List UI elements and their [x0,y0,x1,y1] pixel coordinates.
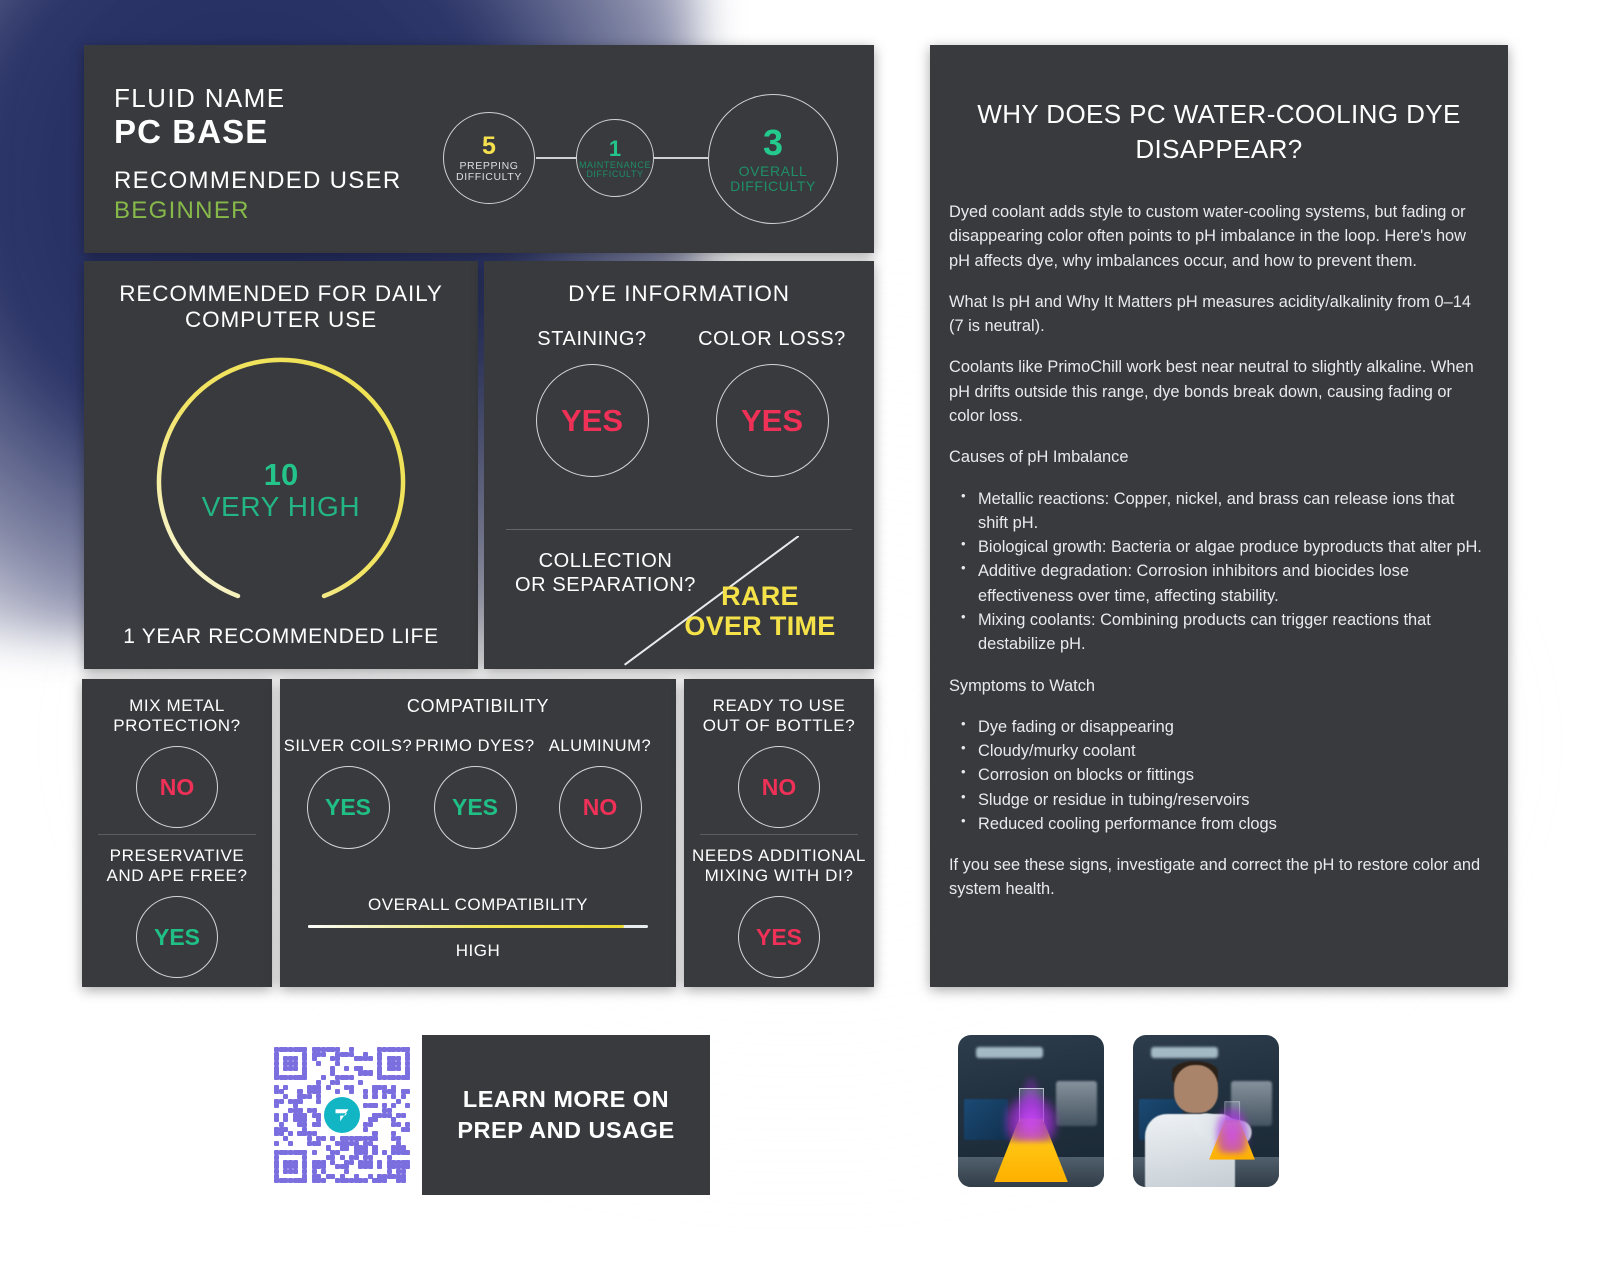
qr-module [372,1117,377,1122]
mix-metal-label-line1: MIX METAL [82,696,272,716]
qr-module [283,1117,288,1122]
symptoms-list-item: Cloudy/murky coolant [949,739,1486,763]
qr-module [316,1122,321,1127]
article-closing: If you see these signs, investigate and … [949,853,1486,902]
qr-module [368,1070,373,1075]
qr-module [372,1103,377,1108]
recommended-user-value: BEGINNER [114,197,250,225]
mix-metal-value: NO [136,746,218,828]
article-paragraph-2: What Is pH and Why It Matters pH measure… [949,290,1486,339]
daily-use-gauge-panel: RECOMMENDED FOR DAILY COMPUTER USE 10 VE… [84,261,478,669]
symptoms-list-item: Corrosion on blocks or fittings [949,763,1486,787]
compat-silver-coils-group: SILVER COILS? YES [282,737,414,849]
made-in-usa-block: PROUDLY MADE IN THE USA [955,1032,1495,1197]
prepping-difficulty-circle: 5 PREPPING DIFFICULTY [443,112,535,204]
qr-module [279,1099,284,1104]
qr-module [396,1099,401,1104]
qr-module [297,1099,302,1104]
difficulty-connector-1 [536,157,577,159]
qr-module [316,1061,321,1066]
preservative-label-line1: PRESERVATIVE [82,846,272,866]
qr-module [321,1178,326,1183]
overall-compatibility-value: HIGH [280,941,676,961]
qr-module [372,1094,377,1099]
qr-module [382,1178,387,1183]
qr-module [274,1141,279,1146]
learn-more-line2: PREP AND USAGE [457,1115,674,1146]
maintenance-difficulty-label-2: DIFFICULTY [586,170,643,179]
qr-module [307,1094,312,1099]
qr-module [382,1094,387,1099]
qr-module [363,1178,368,1183]
symptoms-list: Dye fading or disappearing Cloudy/murky … [949,715,1486,836]
qr-module [372,1136,377,1141]
overall-difficulty-circle: 3 OVERALL DIFFICULTY [708,94,838,224]
qr-module [363,1094,368,1099]
qr-module [321,1052,326,1057]
mix-metal-divider [98,834,256,835]
overall-difficulty-value: 3 [763,124,783,162]
qr-module [405,1150,410,1155]
fluid-name-label: FLUID NAME [114,83,285,114]
primochill-logo-icon [324,1097,360,1133]
qr-module [368,1056,373,1061]
overall-compatibility-label: OVERALL COMPATIBILITY [280,895,676,915]
qr-module [405,1075,410,1080]
ready-value: NO [738,746,820,828]
learn-more-text: LEARN MORE ON PREP AND USAGE [457,1084,674,1146]
primochill-mark-icon [332,1105,352,1125]
maintenance-difficulty-value: 1 [609,137,621,160]
staining-value: YES [536,364,649,477]
staining-group: STAINING? YES [502,328,682,477]
symptoms-list-item: Reduced cooling performance from clogs [949,812,1486,836]
qr-module [274,1103,279,1108]
color-loss-group: COLOR LOSS? YES [682,328,862,477]
usa-rule-left [1303,1118,1359,1122]
lab-photo-scientist [1130,1032,1282,1190]
learn-more-line1: LEARN MORE ON [457,1084,674,1115]
qr-module [372,1150,377,1155]
usa-rule-right [1442,1118,1498,1122]
qr-module [405,1103,410,1108]
fluid-name-value: PC BASE [114,113,268,151]
prepping-difficulty-value: 5 [482,133,496,159]
qr-module [302,1075,307,1080]
compat-primo-dyes-group: PRIMO DYES? YES [409,737,541,849]
article-body: Dyed coolant adds style to custom water-… [949,200,1486,919]
gauge-rating: VERY HIGH [84,490,478,524]
qr-module [321,1169,326,1174]
qr-module [405,1164,410,1169]
gauge-title-line1: RECOMMENDED FOR DAILY [84,281,478,307]
qr-module [344,1145,349,1150]
recommended-user-label: RECOMMENDED USER [114,167,401,195]
gauge-title-line2: COMPUTER USE [84,307,478,333]
compat-aluminum-label: ALUMINUM? [534,737,666,756]
ready-divider [700,834,858,835]
lab-photo-flask [955,1032,1107,1190]
qr-canvas [274,1047,410,1183]
gauge-title: RECOMMENDED FOR DAILY COMPUTER USE [84,281,478,334]
mix-metal-panel: MIX METAL PROTECTION? NO PRESERVATIVE AN… [82,679,272,987]
color-loss-value: YES [716,364,829,477]
collection-separation-value: RARE OVER TIME [660,581,860,641]
qr-module [302,1178,307,1183]
qr-module [293,1066,298,1071]
qr-module [283,1085,288,1090]
qr-module [326,1085,331,1090]
causes-list-item: Metallic reactions: Copper, nickel, and … [949,487,1486,536]
overall-difficulty-label-2: DIFFICULTY [730,179,816,194]
fluid-header-panel: FLUID NAME PC BASE RECOMMENDED USER BEGI… [84,45,874,253]
dye-information-panel: DYE INFORMATION STAINING? YES COLOR LOSS… [484,261,874,669]
prepping-difficulty-label-1: PREPPING [459,161,518,172]
ready-to-use-panel: READY TO USE OUT OF BOTTLE? NO NEEDS ADD… [684,679,874,987]
qr-module [288,1141,293,1146]
compatibility-panel: COMPATIBILITY SILVER COILS? YES PRIMO DY… [280,679,676,987]
lab-photo-scientist-content [1133,1035,1279,1187]
maintenance-difficulty-circle: 1 MAINTENANCE DIFFICULTY [576,119,654,197]
recommended-life-label: 1 YEAR RECOMMENDED LIFE [84,625,478,649]
article-title: WHY DOES PC WATER-COOLING DYE DISAPPEAR? [960,97,1478,167]
made-in-usa-text: PROUDLY MADE IN THE USA [1303,1026,1498,1188]
mix-metal-protection-group: MIX METAL PROTECTION? NO [82,696,272,828]
causes-list: Metallic reactions: Copper, nickel, and … [949,487,1486,657]
preservative-ape-free-group: PRESERVATIVE AND APE FREE? YES [82,846,272,978]
article-paragraph-1: Dyed coolant adds style to custom water-… [949,200,1486,273]
qr-module [335,1080,340,1085]
qr-code[interactable] [262,1035,422,1195]
mix-metal-label-line2: PROTECTION? [82,716,272,736]
qr-module [391,1103,396,1108]
mixdi-label-line1: NEEDS ADDITIONAL [684,846,874,866]
symptoms-heading: Symptoms to Watch [949,674,1486,698]
mixdi-value: YES [738,896,820,978]
symptoms-list-item: Dye fading or disappearing [949,715,1486,739]
color-loss-label: COLOR LOSS? [682,328,862,351]
qr-module [312,1150,317,1155]
qr-module [349,1089,354,1094]
qr-module [293,1169,298,1174]
causes-list-item: Additive degradation: Corrosion inhibito… [949,559,1486,608]
article-panel: WHY DOES PC WATER-COOLING DYE DISAPPEAR?… [930,45,1508,987]
qr-module [405,1127,410,1132]
qr-module [349,1075,354,1080]
ready-label-line2: OUT OF BOTTLE? [684,716,874,736]
article-paragraph-3: Coolants like PrimoChill work best near … [949,355,1486,428]
qr-module [316,1141,321,1146]
qr-module [288,1131,293,1136]
collection-label-line1: COLLECTION [498,549,713,573]
gauge-value: 10 [84,459,478,490]
usa-label: USA [1303,1133,1498,1188]
causes-list-item: Mixing coolants: Combining products can … [949,608,1486,657]
learn-more-block[interactable]: LEARN MORE ON PREP AND USAGE [262,1035,710,1195]
overall-compatibility-bar-fill [308,925,624,928]
qr-module [368,1122,373,1127]
qr-module [363,1127,368,1132]
causes-list-item: Biological growth: Bacteria or algae pro… [949,535,1486,559]
staining-label: STAINING? [502,328,682,351]
usa-made-label: MADE [1303,1055,1498,1102]
qr-module [401,1178,406,1183]
qr-module [401,1094,406,1099]
learn-more-label-box[interactable]: LEARN MORE ON PREP AND USAGE [422,1035,710,1195]
lab-photo-flask-content [958,1035,1104,1187]
qr-module [405,1089,410,1094]
qr-module [316,1099,321,1104]
ready-label-line1: READY TO USE [684,696,874,716]
causes-heading: Causes of pH Imbalance [949,445,1486,469]
overall-difficulty-label-1: OVERALL [739,164,808,179]
qr-module [321,1075,326,1080]
prepping-difficulty-label-2: DIFFICULTY [456,172,522,183]
symptoms-list-item: Sludge or residue in tubing/reservoirs [949,788,1486,812]
qr-module [401,1113,406,1118]
compat-primo-dyes-value: YES [434,766,517,849]
qr-module [358,1080,363,1085]
collection-value-line1: RARE [660,581,860,611]
compat-silver-coils-value: YES [307,766,390,849]
qr-module [349,1160,354,1165]
qr-module [396,1122,401,1127]
compat-primo-dyes-label: PRIMO DYES? [409,737,541,756]
compat-aluminum-value: NO [559,766,642,849]
qr-logo [321,1094,363,1136]
qr-module [396,1066,401,1071]
preservative-value: YES [136,896,218,978]
qr-module [368,1164,373,1169]
gauge-readout: 10 VERY HIGH [84,459,478,524]
qr-module [321,1136,326,1141]
preservative-label-line2: AND APE FREE? [82,866,272,886]
compatibility-title: COMPATIBILITY [280,696,676,717]
difficulty-connector-2 [654,157,708,159]
qr-module [344,1066,349,1071]
qr-module [344,1169,349,1174]
overall-compatibility-bar [308,925,648,928]
dye-information-title: DYE INFORMATION [484,281,874,307]
qr-module [335,1061,340,1066]
mixdi-label-line2: MIXING WITH DI? [684,866,874,886]
compat-silver-coils-label: SILVER COILS? [282,737,414,756]
compat-aluminum-group: ALUMINUM? NO [534,737,666,849]
qr-module [377,1164,382,1169]
ready-out-of-bottle-group: READY TO USE OUT OF BOTTLE? NO [684,696,874,828]
needs-di-mixing-group: NEEDS ADDITIONAL MIXING WITH DI? YES [684,846,874,978]
collection-value-line2: OVER TIME [660,611,860,641]
dye-divider [506,529,852,530]
